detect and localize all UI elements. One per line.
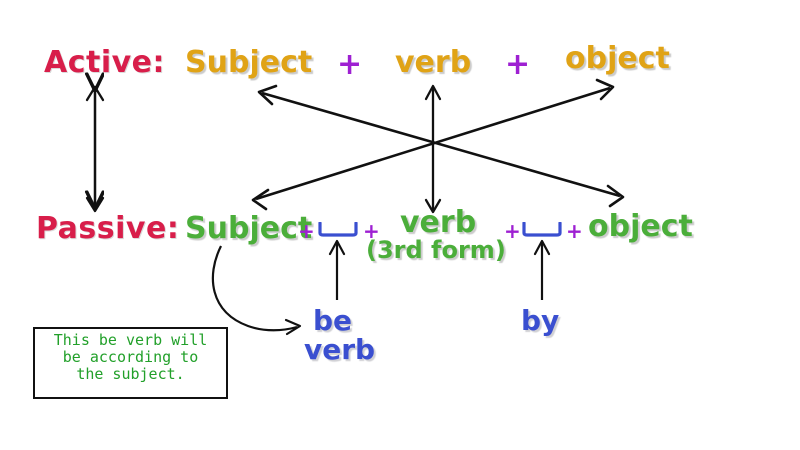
passive-plus-4: +: [566, 221, 583, 241]
active-plus-2: +: [505, 50, 530, 80]
arrow-subject-to-be-verb-curve: [213, 246, 300, 334]
passive-row-label: Passive:: [36, 214, 179, 244]
active-verb-word: verb: [395, 48, 471, 78]
blank-underscore-icon: [521, 222, 563, 238]
passive-verb-qualifier: (3rd form): [366, 238, 506, 262]
arrow-be-verb-to-blank: [330, 241, 344, 300]
arrow-active-subject-to-passive-object: [259, 86, 623, 206]
passive-verb-word: verb: [400, 208, 476, 238]
passive-object-word: object: [588, 212, 693, 242]
note-callout-text: This be verb will be according to the su…: [41, 332, 220, 382]
blank-slot-by: [521, 222, 563, 238]
blank-underscore-icon: [317, 222, 359, 238]
arrow-active-passive-label: [87, 87, 103, 211]
note-callout-box: This be verb will be according to the su…: [33, 327, 228, 399]
passive-subject-word: Subject: [185, 214, 312, 244]
fill-in-by: by: [521, 307, 559, 335]
arrow-by-to-blank: [535, 241, 549, 300]
passive-plus-1: +: [298, 221, 315, 241]
blank-slot-be-verb: [317, 222, 359, 238]
active-subject-word: Subject: [185, 48, 312, 78]
arrow-active-object-to-passive-subject: [253, 80, 613, 209]
grammar-diagram-canvas: Active: Subject + verb + object Passive:…: [0, 0, 800, 450]
active-object-word: object: [565, 44, 670, 74]
active-plus-1: +: [337, 50, 362, 80]
fill-in-be-line2: verb: [304, 336, 375, 364]
active-row-label: Active:: [44, 48, 165, 78]
passive-plus-3: +: [504, 221, 521, 241]
fill-in-be-line1: be: [313, 307, 352, 335]
arrow-verb-to-verb: [426, 86, 440, 212]
